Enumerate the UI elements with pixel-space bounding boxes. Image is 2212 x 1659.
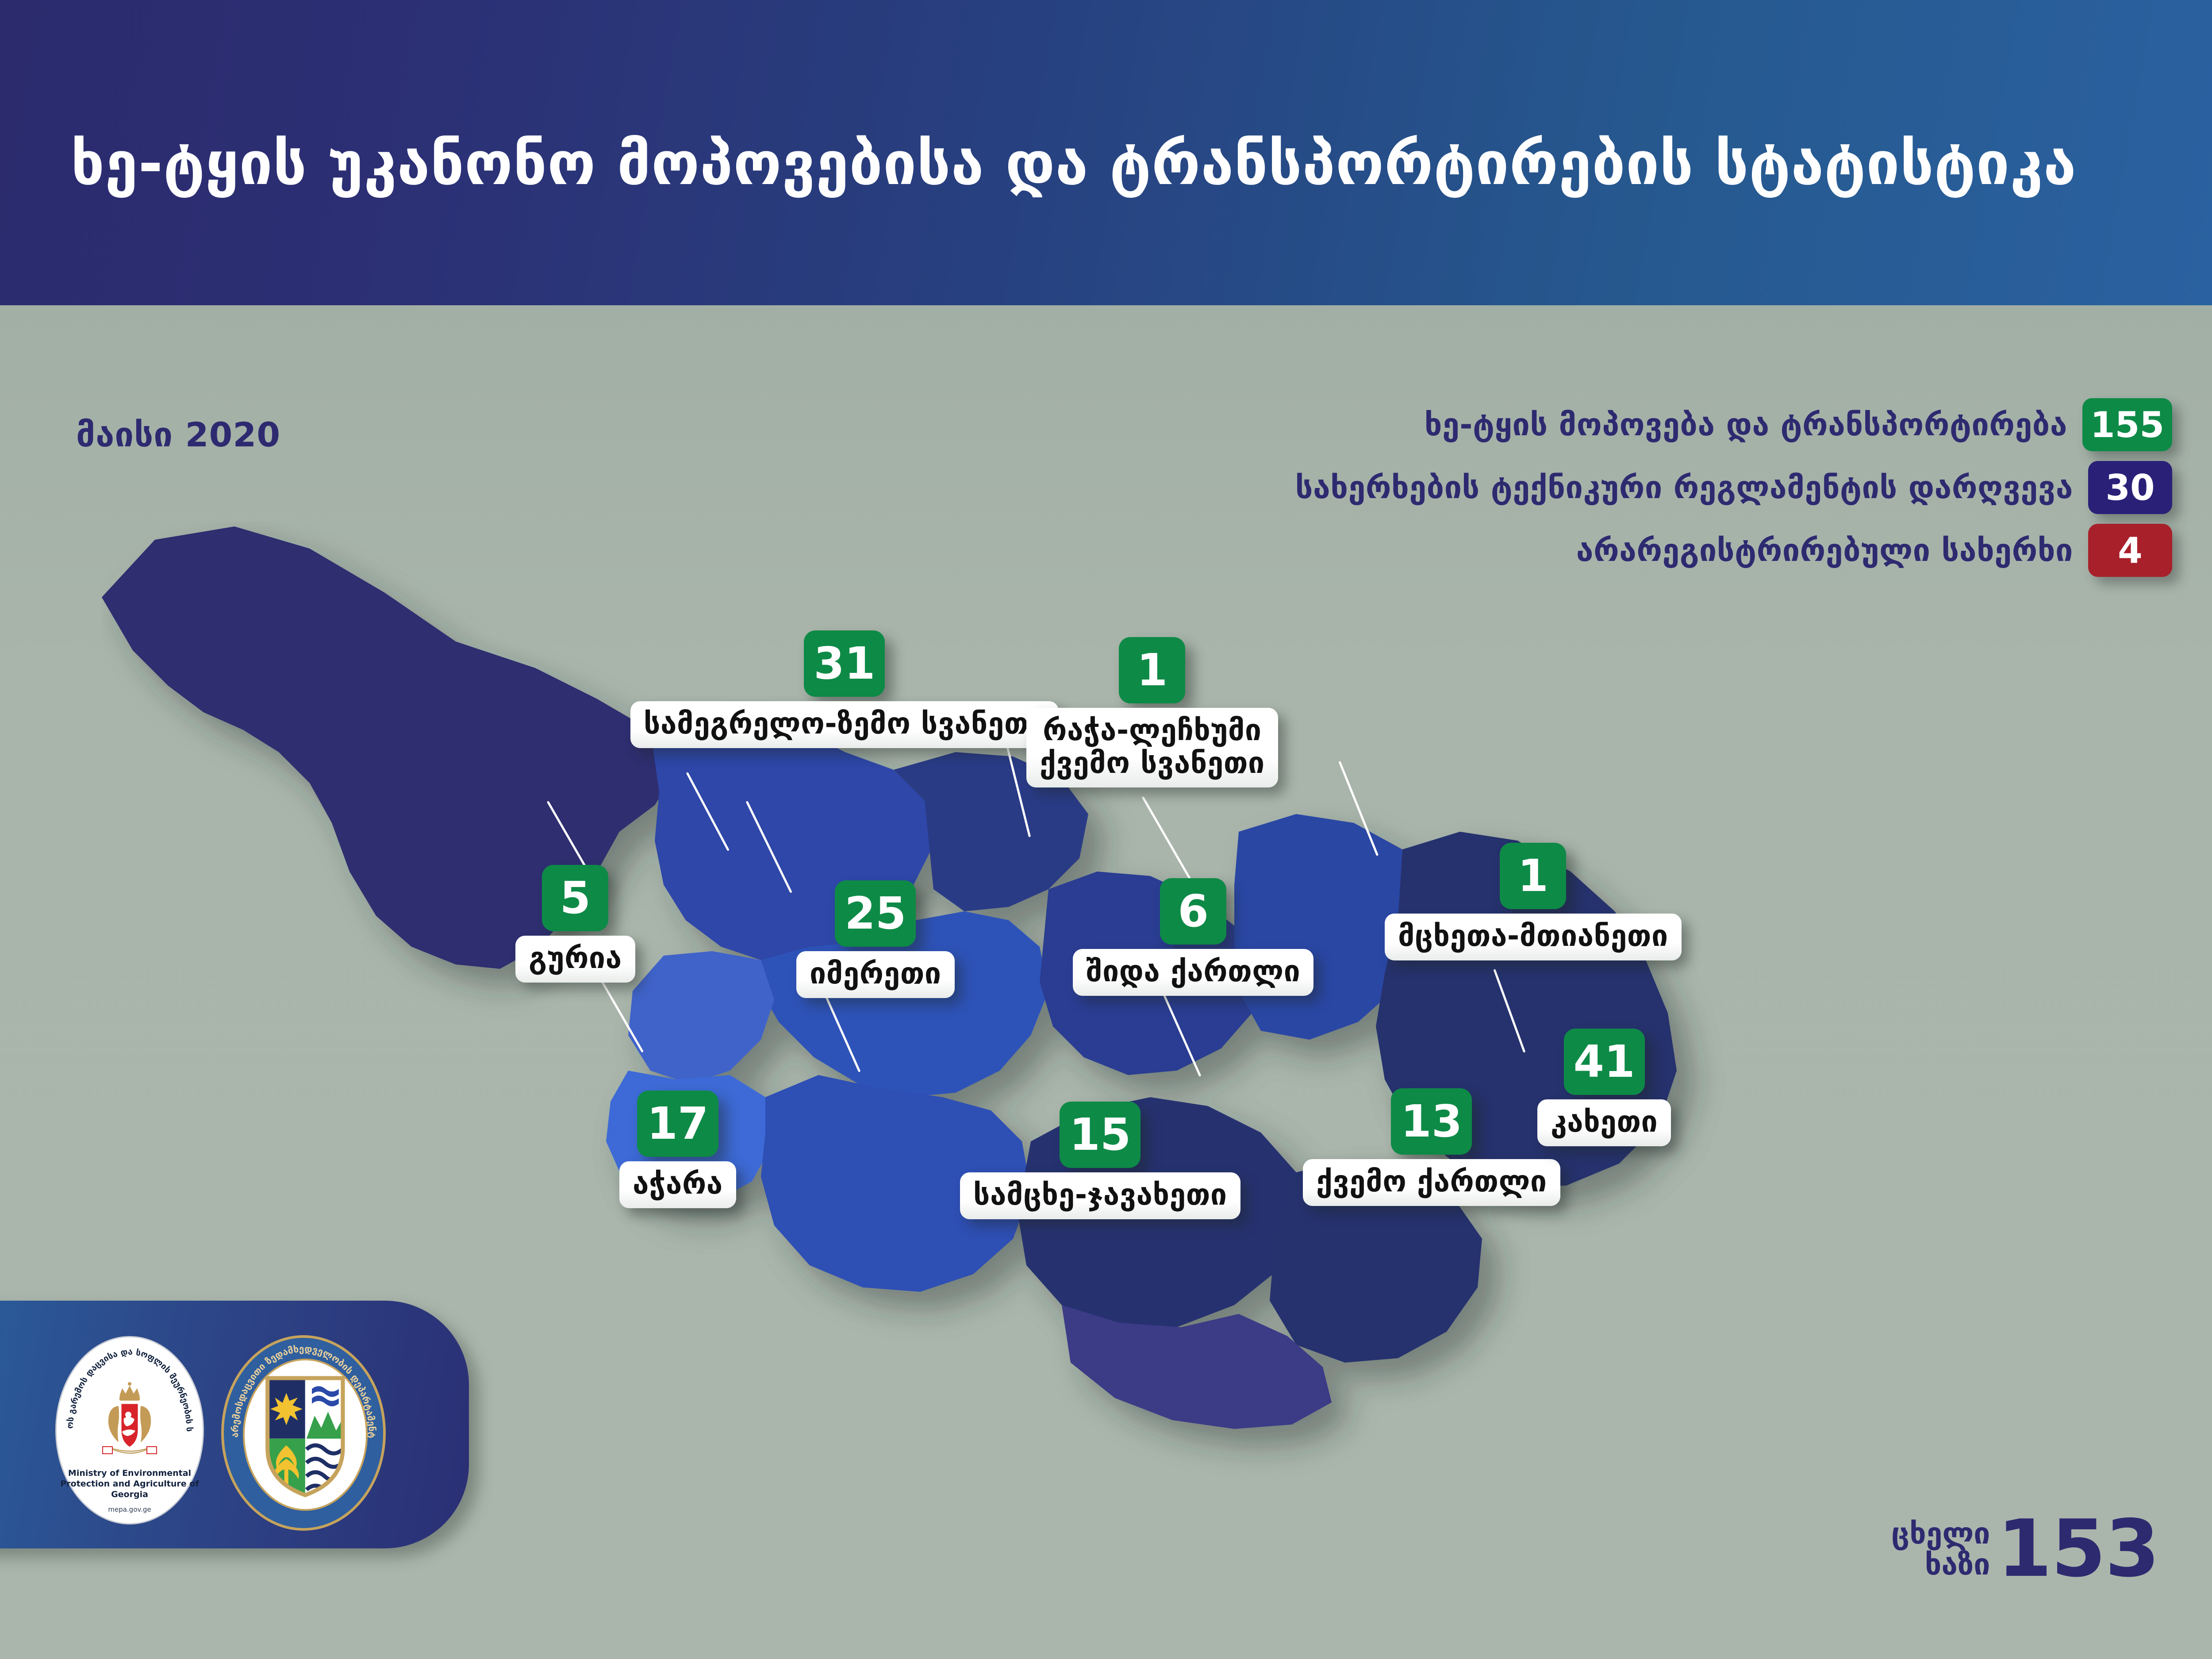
marker-label-racha-line1: რაჭა-ლეჩხუმი	[1040, 714, 1265, 747]
department-emblem-inner	[243, 1359, 368, 1510]
ministry-url: mepa.gov.ge	[57, 1505, 203, 1513]
map-marker-imereti[interactable]: 25 იმერეთი	[796, 880, 955, 998]
hotline-words: ცხელი ხაზი	[1891, 1518, 1990, 1580]
marker-label-racha-line2: ქვემო სვანეთი	[1040, 747, 1265, 780]
legend-badge-timber: 155	[2082, 398, 2172, 451]
marker-value-guria: 5	[542, 865, 608, 931]
page-title: ხე-ტყის უკანონო მოპოვებისა და ტრანსპორტი…	[71, 133, 2150, 195]
marker-label-racha: რაჭა-ლეჩხუმი ქვემო სვანეთი	[1026, 708, 1278, 787]
infographic-poster: ხე-ტყის უკანონო მოპოვებისა და ტრანსპორტი…	[0, 0, 2212, 1659]
marker-value-imereti: 25	[835, 880, 916, 947]
map-marker-mtskheta[interactable]: 1 მცხეთა-მთიანეთი	[1385, 843, 1682, 960]
marker-label-guria: გურია	[515, 936, 635, 983]
map-marker-guria[interactable]: 5 გურია	[515, 865, 635, 983]
marker-value-shida: 6	[1160, 878, 1226, 945]
legend-badge-unregistered-sawmill: 4	[2088, 524, 2172, 577]
marker-value-samegrelo: 31	[804, 630, 885, 697]
legend-item-sawmill-regulation: სახერხების ტექნიკური რეგლამენტის დარღვევ…	[845, 461, 2172, 514]
department-shield-icon	[245, 1360, 366, 1509]
map-marker-adjara[interactable]: 17 აჭარა	[619, 1091, 736, 1208]
map-marker-samtskhe[interactable]: 15 სამცხე-ჯავახეთი	[960, 1102, 1240, 1219]
map-marker-kvemo[interactable]: 13 ქვემო ქართლი	[1303, 1088, 1560, 1206]
hotline-block: ცხელი ხაზი 153	[1891, 1514, 2159, 1584]
ministry-emblem: საქართველოს გარემოს დაცვისა და სოფლის მე…	[55, 1336, 204, 1525]
marker-value-racha: 1	[1119, 637, 1185, 703]
marker-label-shida: შიდა ქართლი	[1073, 949, 1313, 996]
marker-value-kvemo: 13	[1391, 1088, 1472, 1155]
map-region-guria	[628, 951, 774, 1084]
marker-value-adjara: 17	[637, 1091, 718, 1157]
legend-item-timber: ხე-ტყის მოპოვება და ტრანსპორტირება 155	[845, 398, 2172, 451]
legend-label-sawmill-regulation: სახერხების ტექნიკური რეგლამენტის დარღვევ…	[1295, 469, 2073, 506]
map-marker-racha[interactable]: 1 რაჭა-ლეჩხუმი ქვემო სვანეთი	[1026, 637, 1278, 787]
marker-label-kvemo: ქვემო ქართლი	[1303, 1159, 1560, 1206]
legend-label-timber: ხე-ტყის მოპოვება და ტრანსპორტირება	[1425, 407, 2067, 443]
hotline-line1: ცხელი	[1891, 1518, 1990, 1549]
marker-label-mtskheta: მცხეთა-მთიანეთი	[1385, 914, 1682, 960]
hotline-line2: ხაზი	[1891, 1549, 1990, 1580]
georgia-coat-of-arms-icon	[96, 1380, 163, 1469]
marker-value-kakheti: 41	[1564, 1029, 1645, 1095]
hotline-number: 153	[1997, 1514, 2159, 1584]
marker-label-samegrelo: სამეგრელო-ზემო სვანეთი	[630, 701, 1059, 748]
marker-label-samtskhe: სამცხე-ჯავახეთი	[960, 1172, 1240, 1219]
marker-value-mtskheta: 1	[1500, 843, 1566, 909]
map-marker-samegrelo[interactable]: 31 სამეგრელო-ზემო სვანეთი	[630, 630, 1059, 748]
map-marker-shida[interactable]: 6 შიდა ქართლი	[1073, 878, 1313, 996]
logo-pill: საქართველოს გარემოს დაცვისა და სოფლის მე…	[0, 1301, 469, 1548]
department-emblem: გარემოსდაცვითი ზედამხედველობის დეპარტამე…	[221, 1335, 386, 1531]
marker-value-samtskhe: 15	[1060, 1102, 1141, 1168]
date-label: მაისი 2020	[76, 415, 280, 454]
marker-label-adjara: აჭარა	[619, 1161, 736, 1208]
marker-label-imereti: იმერეთი	[796, 951, 955, 998]
marker-label-kakheti: კახეთი	[1537, 1099, 1671, 1146]
map-marker-kakheti[interactable]: 41 კახეთი	[1537, 1029, 1671, 1146]
ministry-caption: Ministry of Environmental Protection and…	[57, 1468, 203, 1500]
legend-badge-sawmill-regulation: 30	[2088, 461, 2172, 514]
